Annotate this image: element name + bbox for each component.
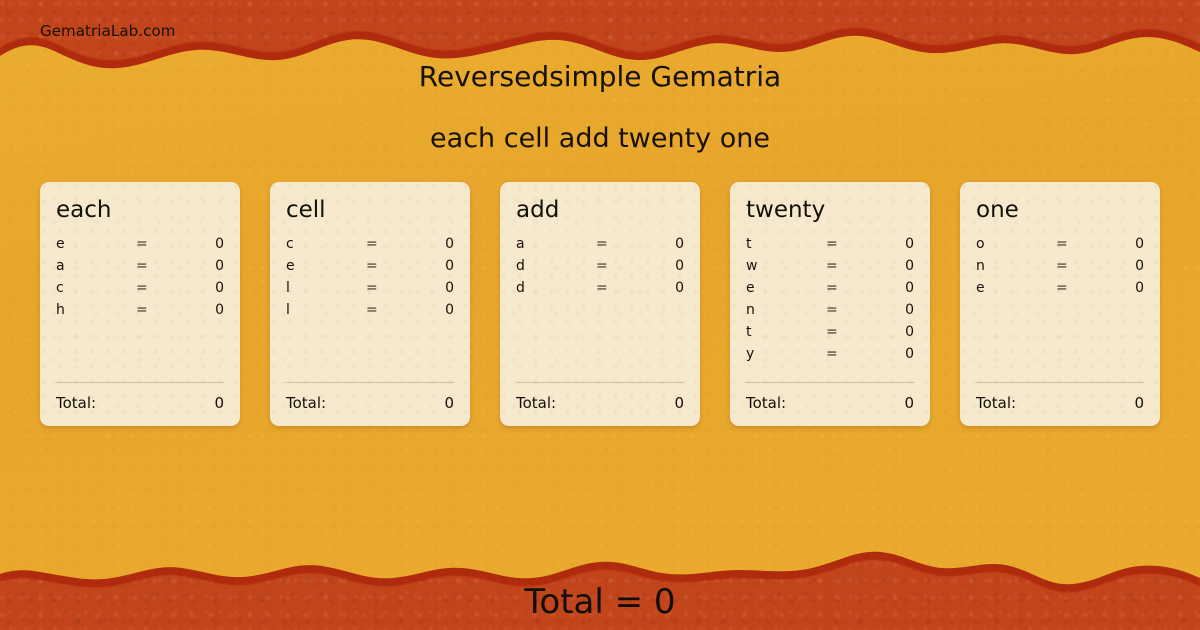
word-card-footer: Total:0 (286, 382, 454, 412)
letter-label: t (746, 236, 826, 252)
word-card: oneo=0n=0e=0Total:0 (960, 182, 1160, 426)
word-card-footer: Total:0 (516, 382, 684, 412)
equals-sign: = (1056, 280, 1092, 296)
word-card-list: eache=0a=0c=0h=0Total:0cellc=0e=0l=0l=0T… (40, 182, 1160, 426)
card-total-label: Total: (56, 394, 96, 412)
letter-label: o (976, 236, 1056, 252)
letter-row: c=0 (286, 236, 454, 258)
letter-value: 0 (632, 236, 684, 252)
word-card: eache=0a=0c=0h=0Total:0 (40, 182, 240, 426)
letter-row: n=0 (976, 258, 1144, 280)
poster-canvas: GematriaLab.com Reversedsimple Gematria … (0, 0, 1200, 630)
letter-label: w (746, 258, 826, 274)
letter-value: 0 (862, 280, 914, 296)
letter-row: e=0 (746, 280, 914, 302)
equals-sign: = (366, 236, 402, 252)
word-card: adda=0d=0d=0Total:0 (500, 182, 700, 426)
equals-sign: = (366, 280, 402, 296)
letter-value: 0 (1092, 236, 1144, 252)
equals-sign: = (826, 346, 862, 362)
word-card-title: twenty (746, 198, 914, 222)
letter-value: 0 (172, 236, 224, 252)
card-total-line: Total:0 (516, 394, 684, 412)
letter-value: 0 (1092, 258, 1144, 274)
equals-sign: = (596, 280, 632, 296)
letter-label: a (56, 258, 136, 274)
card-total-label: Total: (286, 394, 326, 412)
letter-row: l=0 (286, 280, 454, 302)
letter-row: e=0 (286, 258, 454, 280)
page-title: Reversedsimple Gematria (0, 60, 1200, 93)
card-divider (56, 382, 224, 383)
letter-row: w=0 (746, 258, 914, 280)
letter-value: 0 (862, 236, 914, 252)
letter-label: c (56, 280, 136, 296)
letter-label: a (516, 236, 596, 252)
letter-value: 0 (402, 280, 454, 296)
equals-sign: = (366, 258, 402, 274)
card-divider (516, 382, 684, 383)
letter-value: 0 (172, 258, 224, 274)
card-divider (286, 382, 454, 383)
equals-sign: = (826, 258, 862, 274)
letter-row: t=0 (746, 236, 914, 258)
word-card-title: add (516, 198, 684, 222)
letter-value: 0 (862, 302, 914, 318)
letter-row: c=0 (56, 280, 224, 302)
letter-label: d (516, 280, 596, 296)
letter-label: l (286, 280, 366, 296)
word-card-title: cell (286, 198, 454, 222)
equals-sign: = (1056, 258, 1092, 274)
letter-row: e=0 (56, 236, 224, 258)
letter-value: 0 (402, 258, 454, 274)
letter-label: y (746, 346, 826, 362)
grand-total: Total = 0 (0, 582, 1200, 622)
letter-label: e (746, 280, 826, 296)
card-total-value: 0 (444, 394, 454, 412)
letter-value: 0 (172, 280, 224, 296)
equals-sign: = (136, 302, 172, 318)
letter-label: c (286, 236, 366, 252)
card-total-value: 0 (674, 394, 684, 412)
letter-label: h (56, 302, 136, 318)
word-card-title: each (56, 198, 224, 222)
letter-value: 0 (632, 258, 684, 274)
letter-row: n=0 (746, 302, 914, 324)
card-total-line: Total:0 (976, 394, 1144, 412)
letter-row: d=0 (516, 258, 684, 280)
equals-sign: = (136, 258, 172, 274)
card-total-value: 0 (1134, 394, 1144, 412)
letter-label: t (746, 324, 826, 340)
word-card-footer: Total:0 (746, 382, 914, 412)
letter-value: 0 (862, 324, 914, 340)
card-total-value: 0 (904, 394, 914, 412)
letter-row: h=0 (56, 302, 224, 324)
letter-label: d (516, 258, 596, 274)
equals-sign: = (366, 302, 402, 318)
equals-sign: = (1056, 236, 1092, 252)
letter-row: d=0 (516, 280, 684, 302)
card-total-label: Total: (976, 394, 1016, 412)
equals-sign: = (136, 280, 172, 296)
letter-value: 0 (402, 236, 454, 252)
letter-row: o=0 (976, 236, 1144, 258)
letter-label: e (56, 236, 136, 252)
letter-value: 0 (632, 280, 684, 296)
card-total-line: Total:0 (746, 394, 914, 412)
card-total-label: Total: (746, 394, 786, 412)
letter-row-list: e=0a=0c=0h=0 (56, 236, 224, 324)
word-card-title: one (976, 198, 1144, 222)
letter-row: t=0 (746, 324, 914, 346)
card-total-line: Total:0 (56, 394, 224, 412)
letter-row: a=0 (516, 236, 684, 258)
card-total-line: Total:0 (286, 394, 454, 412)
letter-row-list: t=0w=0e=0n=0t=0y=0 (746, 236, 914, 368)
equals-sign: = (596, 236, 632, 252)
letter-row-list: a=0d=0d=0 (516, 236, 684, 302)
letter-label: n (976, 258, 1056, 274)
letter-row: l=0 (286, 302, 454, 324)
card-total-label: Total: (516, 394, 556, 412)
card-total-value: 0 (214, 394, 224, 412)
letter-row: e=0 (976, 280, 1144, 302)
letter-label: e (286, 258, 366, 274)
letter-value: 0 (862, 258, 914, 274)
word-card: cellc=0e=0l=0l=0Total:0 (270, 182, 470, 426)
letter-value: 0 (1092, 280, 1144, 296)
site-brand: GematriaLab.com (40, 22, 175, 40)
equals-sign: = (826, 236, 862, 252)
word-card-footer: Total:0 (976, 382, 1144, 412)
letter-value: 0 (862, 346, 914, 362)
letter-label: e (976, 280, 1056, 296)
card-divider (976, 382, 1144, 383)
letter-label: l (286, 302, 366, 318)
letter-value: 0 (172, 302, 224, 318)
phrase-subtitle: each cell add twenty one (0, 123, 1200, 154)
word-card-footer: Total:0 (56, 382, 224, 412)
letter-row: a=0 (56, 258, 224, 280)
equals-sign: = (826, 324, 862, 340)
equals-sign: = (826, 280, 862, 296)
equals-sign: = (826, 302, 862, 318)
letter-row-list: o=0n=0e=0 (976, 236, 1144, 302)
letter-value: 0 (402, 302, 454, 318)
letter-row-list: c=0e=0l=0l=0 (286, 236, 454, 324)
letter-row: y=0 (746, 346, 914, 368)
equals-sign: = (136, 236, 172, 252)
letter-label: n (746, 302, 826, 318)
card-divider (746, 382, 914, 383)
equals-sign: = (596, 258, 632, 274)
word-card: twentyt=0w=0e=0n=0t=0y=0Total:0 (730, 182, 930, 426)
